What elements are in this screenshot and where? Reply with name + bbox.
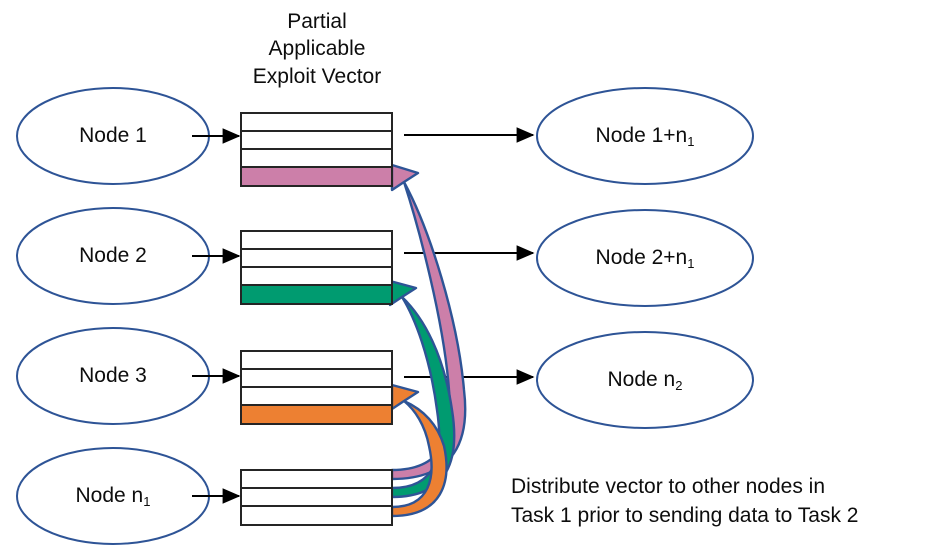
source-node-1-text: Node 1	[79, 124, 147, 147]
vector-node-n1-row-2[interactable]	[241, 506, 392, 525]
vector-node-1-row-0[interactable]	[241, 113, 392, 131]
source-node-3-text: Node 3	[79, 364, 147, 387]
diagram-title: Partial Applicable Exploit Vector	[232, 8, 402, 90]
diagram-title-line-2: Applicable	[232, 35, 402, 62]
source-node-1-label: Node 1	[13, 125, 213, 147]
distribution-caption-line-1: Distribute vector to other nodes in	[511, 472, 931, 501]
dest-node-2-plus-n1-subscript: 1	[687, 256, 694, 271]
vector-node-n1-row-1[interactable]	[241, 488, 392, 506]
vector-node-n1[interactable]	[241, 470, 392, 525]
source-node-n1-text: Node n	[76, 484, 144, 507]
vector-node-1-row-2[interactable]	[241, 149, 392, 167]
vector-node-2-row-0[interactable]	[241, 231, 392, 249]
vector-node-n1-row-0[interactable]	[241, 470, 392, 488]
dest-node-n2-label: Node n2	[537, 369, 753, 391]
distribution-caption: Distribute vector to other nodes in Task…	[511, 472, 931, 531]
vector-node-1-row-3-highlight[interactable]	[241, 167, 392, 186]
dest-node-1-plus-n1-label: Node 1+n1	[537, 125, 753, 147]
dest-node-n2-subscript: 2	[675, 378, 682, 393]
diagram-canvas: Partial Applicable Exploit Vector Node 1…	[0, 0, 933, 551]
vector-node-3-row-2[interactable]	[241, 387, 392, 405]
vector-node-3-row-0[interactable]	[241, 351, 392, 369]
vector-node-3-row-1[interactable]	[241, 369, 392, 387]
diagram-title-line-1: Partial	[232, 8, 402, 35]
source-node-3-label: Node 3	[13, 365, 213, 387]
vector-node-3[interactable]	[241, 351, 392, 424]
source-node-2-text: Node 2	[79, 244, 147, 267]
vector-node-2[interactable]	[241, 231, 392, 304]
vector-node-1-row-1[interactable]	[241, 131, 392, 149]
dest-node-2-plus-n1-text: Node 2+n	[596, 246, 688, 269]
dest-node-2-plus-n1-label: Node 2+n1	[537, 247, 753, 269]
dest-node-n2-text: Node n	[608, 368, 676, 391]
dest-node-1-plus-n1-subscript: 1	[687, 134, 694, 149]
source-node-n1-label: Node n1	[13, 485, 213, 507]
vector-node-2-row-1[interactable]	[241, 249, 392, 267]
vector-node-2-row-3-highlight[interactable]	[241, 285, 392, 304]
source-node-2-label: Node 2	[13, 245, 213, 267]
vector-node-1[interactable]	[241, 113, 392, 186]
diagram-svg	[0, 0, 933, 551]
dest-node-1-plus-n1-text: Node 1+n	[596, 124, 688, 147]
vector-node-3-row-3-highlight[interactable]	[241, 405, 392, 424]
source-node-n1-subscript: 1	[143, 494, 150, 509]
diagram-title-line-3: Exploit Vector	[232, 63, 402, 90]
vector-node-2-row-2[interactable]	[241, 267, 392, 285]
distribution-caption-line-2: Task 1 prior to sending data to Task 2	[511, 501, 931, 530]
